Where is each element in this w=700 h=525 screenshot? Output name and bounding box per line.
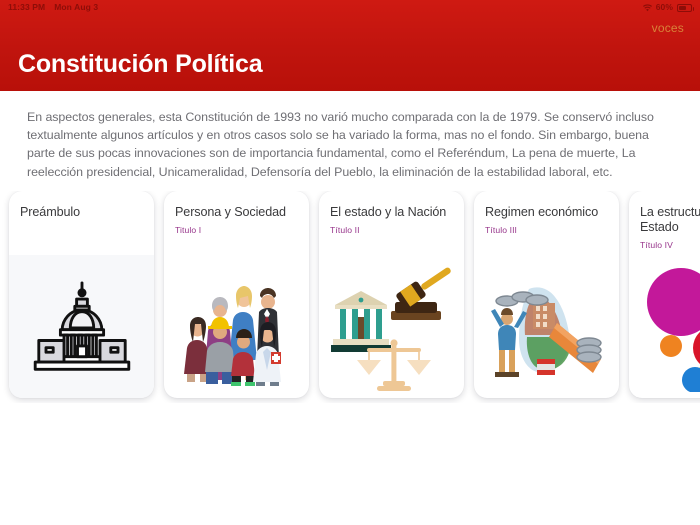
colored-circles-icon (637, 262, 700, 392)
card-preambulo[interactable]: Preámbulo (9, 191, 154, 398)
card-title: Preámbulo (20, 205, 143, 220)
card-header: El estado y la Nación Título II (319, 191, 464, 235)
card-header: Preámbulo (9, 191, 154, 220)
voces-button[interactable]: voces (652, 21, 684, 35)
page-title: Constitución Política (18, 50, 262, 79)
card-header: La estructura del Estado Título IV (629, 191, 700, 250)
courthouse-gavel-scales-icon (329, 261, 455, 393)
card-subtitle: Título II (330, 225, 453, 235)
battery-icon (677, 4, 692, 12)
card-header: Persona y Sociedad Titulo I (164, 191, 309, 235)
card-el-estado-y-la-nacion[interactable]: El estado y la Nación Título II (319, 191, 464, 398)
battery-percent-label: 60% (656, 2, 673, 12)
navigation-bar: voces (0, 14, 700, 46)
card-subtitle: Titulo I (175, 225, 298, 235)
card-artwork (629, 255, 700, 398)
app-root: 11:33 PM Mon Aug 3 60% voces Constitució… (0, 0, 700, 525)
app-header: 11:33 PM Mon Aug 3 60% voces Constitució… (0, 0, 700, 91)
chapter-card-rail[interactable]: Preámbulo (0, 191, 700, 403)
status-bar: 11:33 PM Mon Aug 3 60% (0, 0, 700, 14)
intro-paragraph: En aspectos generales, esta Constitución… (27, 108, 675, 181)
card-artwork (164, 255, 309, 398)
card-title: Persona y Sociedad (175, 205, 298, 220)
wifi-icon (643, 4, 652, 12)
card-title: La estructura del Estado (640, 205, 700, 235)
card-subtitle: Título IV (640, 240, 700, 250)
group-of-people-icon (175, 268, 299, 386)
card-la-estructura-del-estado[interactable]: La estructura del Estado Título IV (629, 191, 700, 398)
coins-economy-map-icon (485, 267, 609, 387)
card-title: Regimen económico (485, 205, 608, 220)
card-artwork (319, 255, 464, 398)
card-title: El estado y la Nación (330, 205, 453, 220)
card-persona-y-sociedad[interactable]: Persona y Sociedad Titulo I (164, 191, 309, 398)
card-header: Regimen económico Título III (474, 191, 619, 235)
capitol-building-icon (28, 279, 136, 375)
card-regimen-economico[interactable]: Regimen económico Título III (474, 191, 619, 398)
card-artwork (474, 255, 619, 398)
status-bar-time: 11:33 PM (8, 2, 45, 12)
status-bar-date: Mon Aug 3 (54, 2, 98, 12)
card-artwork (9, 255, 154, 398)
card-subtitle: Título III (485, 225, 608, 235)
